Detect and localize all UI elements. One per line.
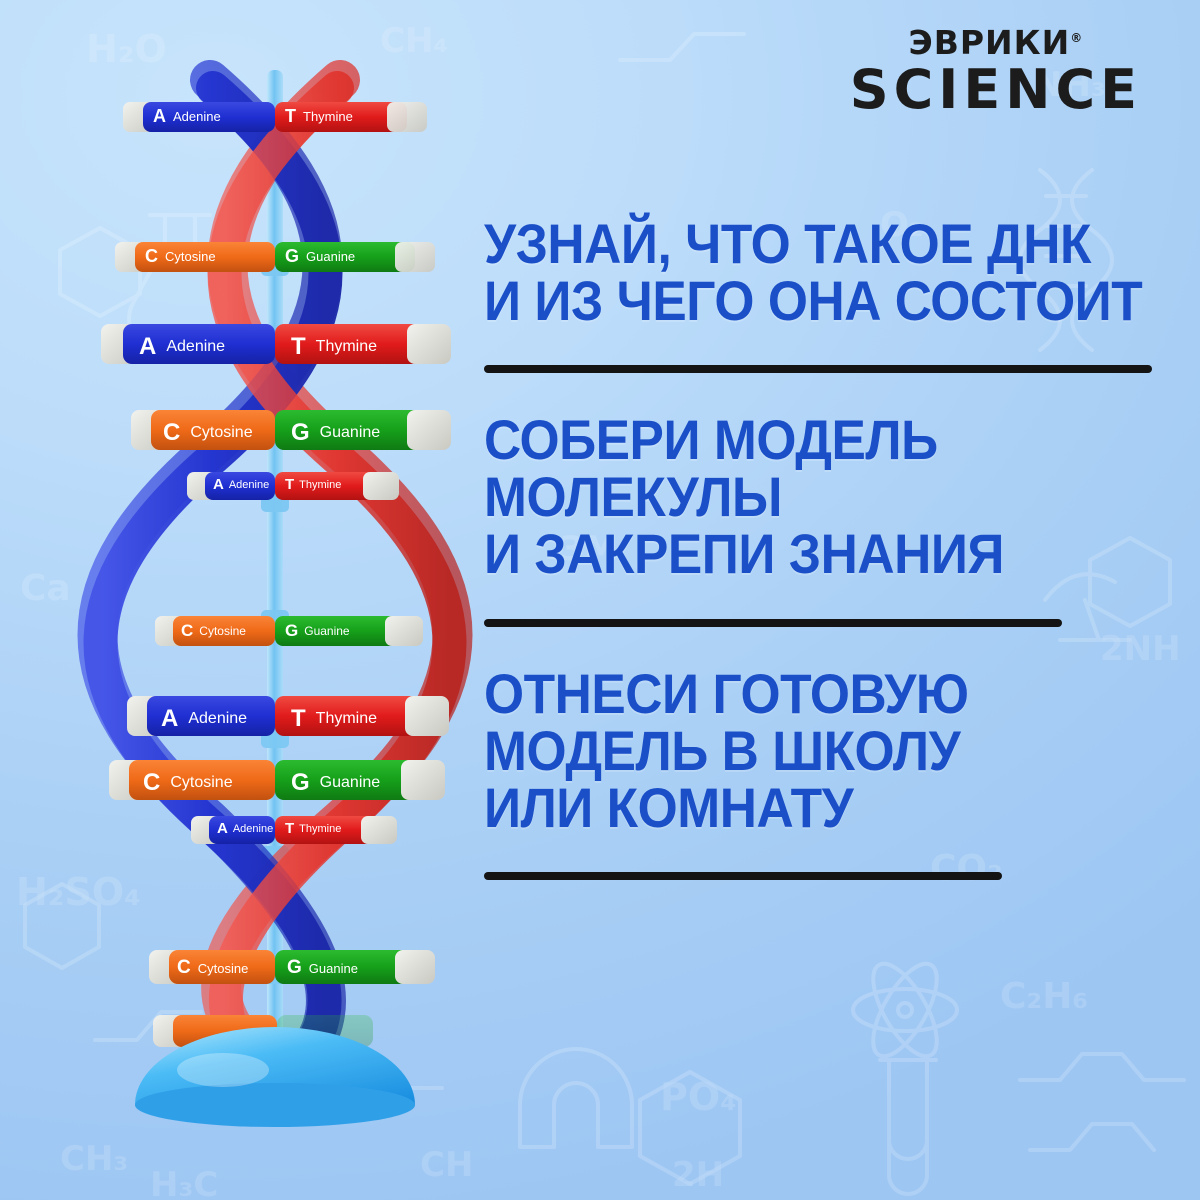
headline-learn: УЗНАЙ, ЧТО ТАКОЕ ДНК И ИЗ ЧЕГО ОНА СОСТО…	[484, 215, 1119, 329]
headline-line: ИЛИ КОМНАТУ	[484, 779, 1119, 836]
feature-block-learn: УЗНАЙ, ЧТО ТАКОЕ ДНК И ИЗ ЧЕГО ОНА СОСТО…	[484, 215, 1174, 329]
headline-line: ОТНЕСИ ГОТОВУЮ	[484, 665, 1119, 722]
headline-carry: ОТНЕСИ ГОТОВУЮ МОДЕЛЬ В ШКОЛУ ИЛИ КОМНАТ…	[484, 665, 1119, 836]
dna-rung	[187, 472, 399, 500]
headline-line: И ЗАКРЕПИ ЗНАНИЯ	[484, 525, 1119, 582]
brand-sub: SCIENCE	[850, 63, 1142, 117]
divider-1	[484, 365, 1152, 373]
divider-3	[484, 872, 1002, 880]
dna-rung	[149, 950, 435, 984]
dna-rung	[109, 760, 445, 800]
headline-line: МОДЕЛЬ В ШКОЛУ	[484, 722, 1119, 779]
svg-text:2H: 2H	[672, 1155, 724, 1195]
brand-logo: ЭВРИКИ® SCIENCE	[850, 26, 1142, 117]
svg-text:C₂H₆: C₂H₆	[1000, 976, 1088, 1017]
svg-text:H₃C: H₃C	[150, 1165, 218, 1200]
svg-text:PO₄: PO₄	[660, 1075, 737, 1119]
feature-block-carry: ОТНЕСИ ГОТОВУЮ МОДЕЛЬ В ШКОЛУ ИЛИ КОМНАТ…	[484, 665, 1174, 836]
headline-line: МОЛЕКУЛЫ	[484, 468, 1119, 525]
headline-line: И ИЗ ЧЕГО ОНА СОСТОИТ	[484, 272, 1119, 329]
feature-block-build: СОБЕРИ МОДЕЛЬ МОЛЕКУЛЫ И ЗАКРЕПИ ЗНАНИЯ	[484, 411, 1174, 582]
svg-text:Ca: Ca	[20, 568, 71, 609]
dna-rung	[191, 816, 397, 844]
svg-text:CH₄: CH₄	[380, 21, 448, 61]
feature-copy-column: УЗНАЙ, ЧТО ТАКОЕ ДНК И ИЗ ЧЕГО ОНА СОСТО…	[484, 215, 1174, 918]
dna-rung	[127, 696, 449, 736]
divider-2	[484, 619, 1062, 627]
trademark-mark: ®	[1070, 31, 1083, 45]
headline-line: СОБЕРИ МОДЕЛЬ	[484, 411, 1119, 468]
brand-name: ЭВРИКИ®	[850, 26, 1142, 59]
dna-model-illustration: A Adenine T Thymine C Cytosine G Guanine…	[95, 60, 455, 1150]
headline-build: СОБЕРИ МОДЕЛЬ МОЛЕКУЛЫ И ЗАКРЕПИ ЗНАНИЯ	[484, 411, 1119, 582]
dna-rung	[101, 324, 451, 364]
svg-text:CH: CH	[420, 1145, 473, 1185]
dna-rung	[155, 616, 423, 646]
poster-canvas: H₂O Ca CH₄ Ca H₂SO₄ O₂ PO₄ 2H C₂H₆ CO₂ N…	[0, 0, 1200, 1200]
dna-rung	[131, 410, 451, 450]
headline-line: УЗНАЙ, ЧТО ТАКОЕ ДНК	[484, 215, 1119, 272]
